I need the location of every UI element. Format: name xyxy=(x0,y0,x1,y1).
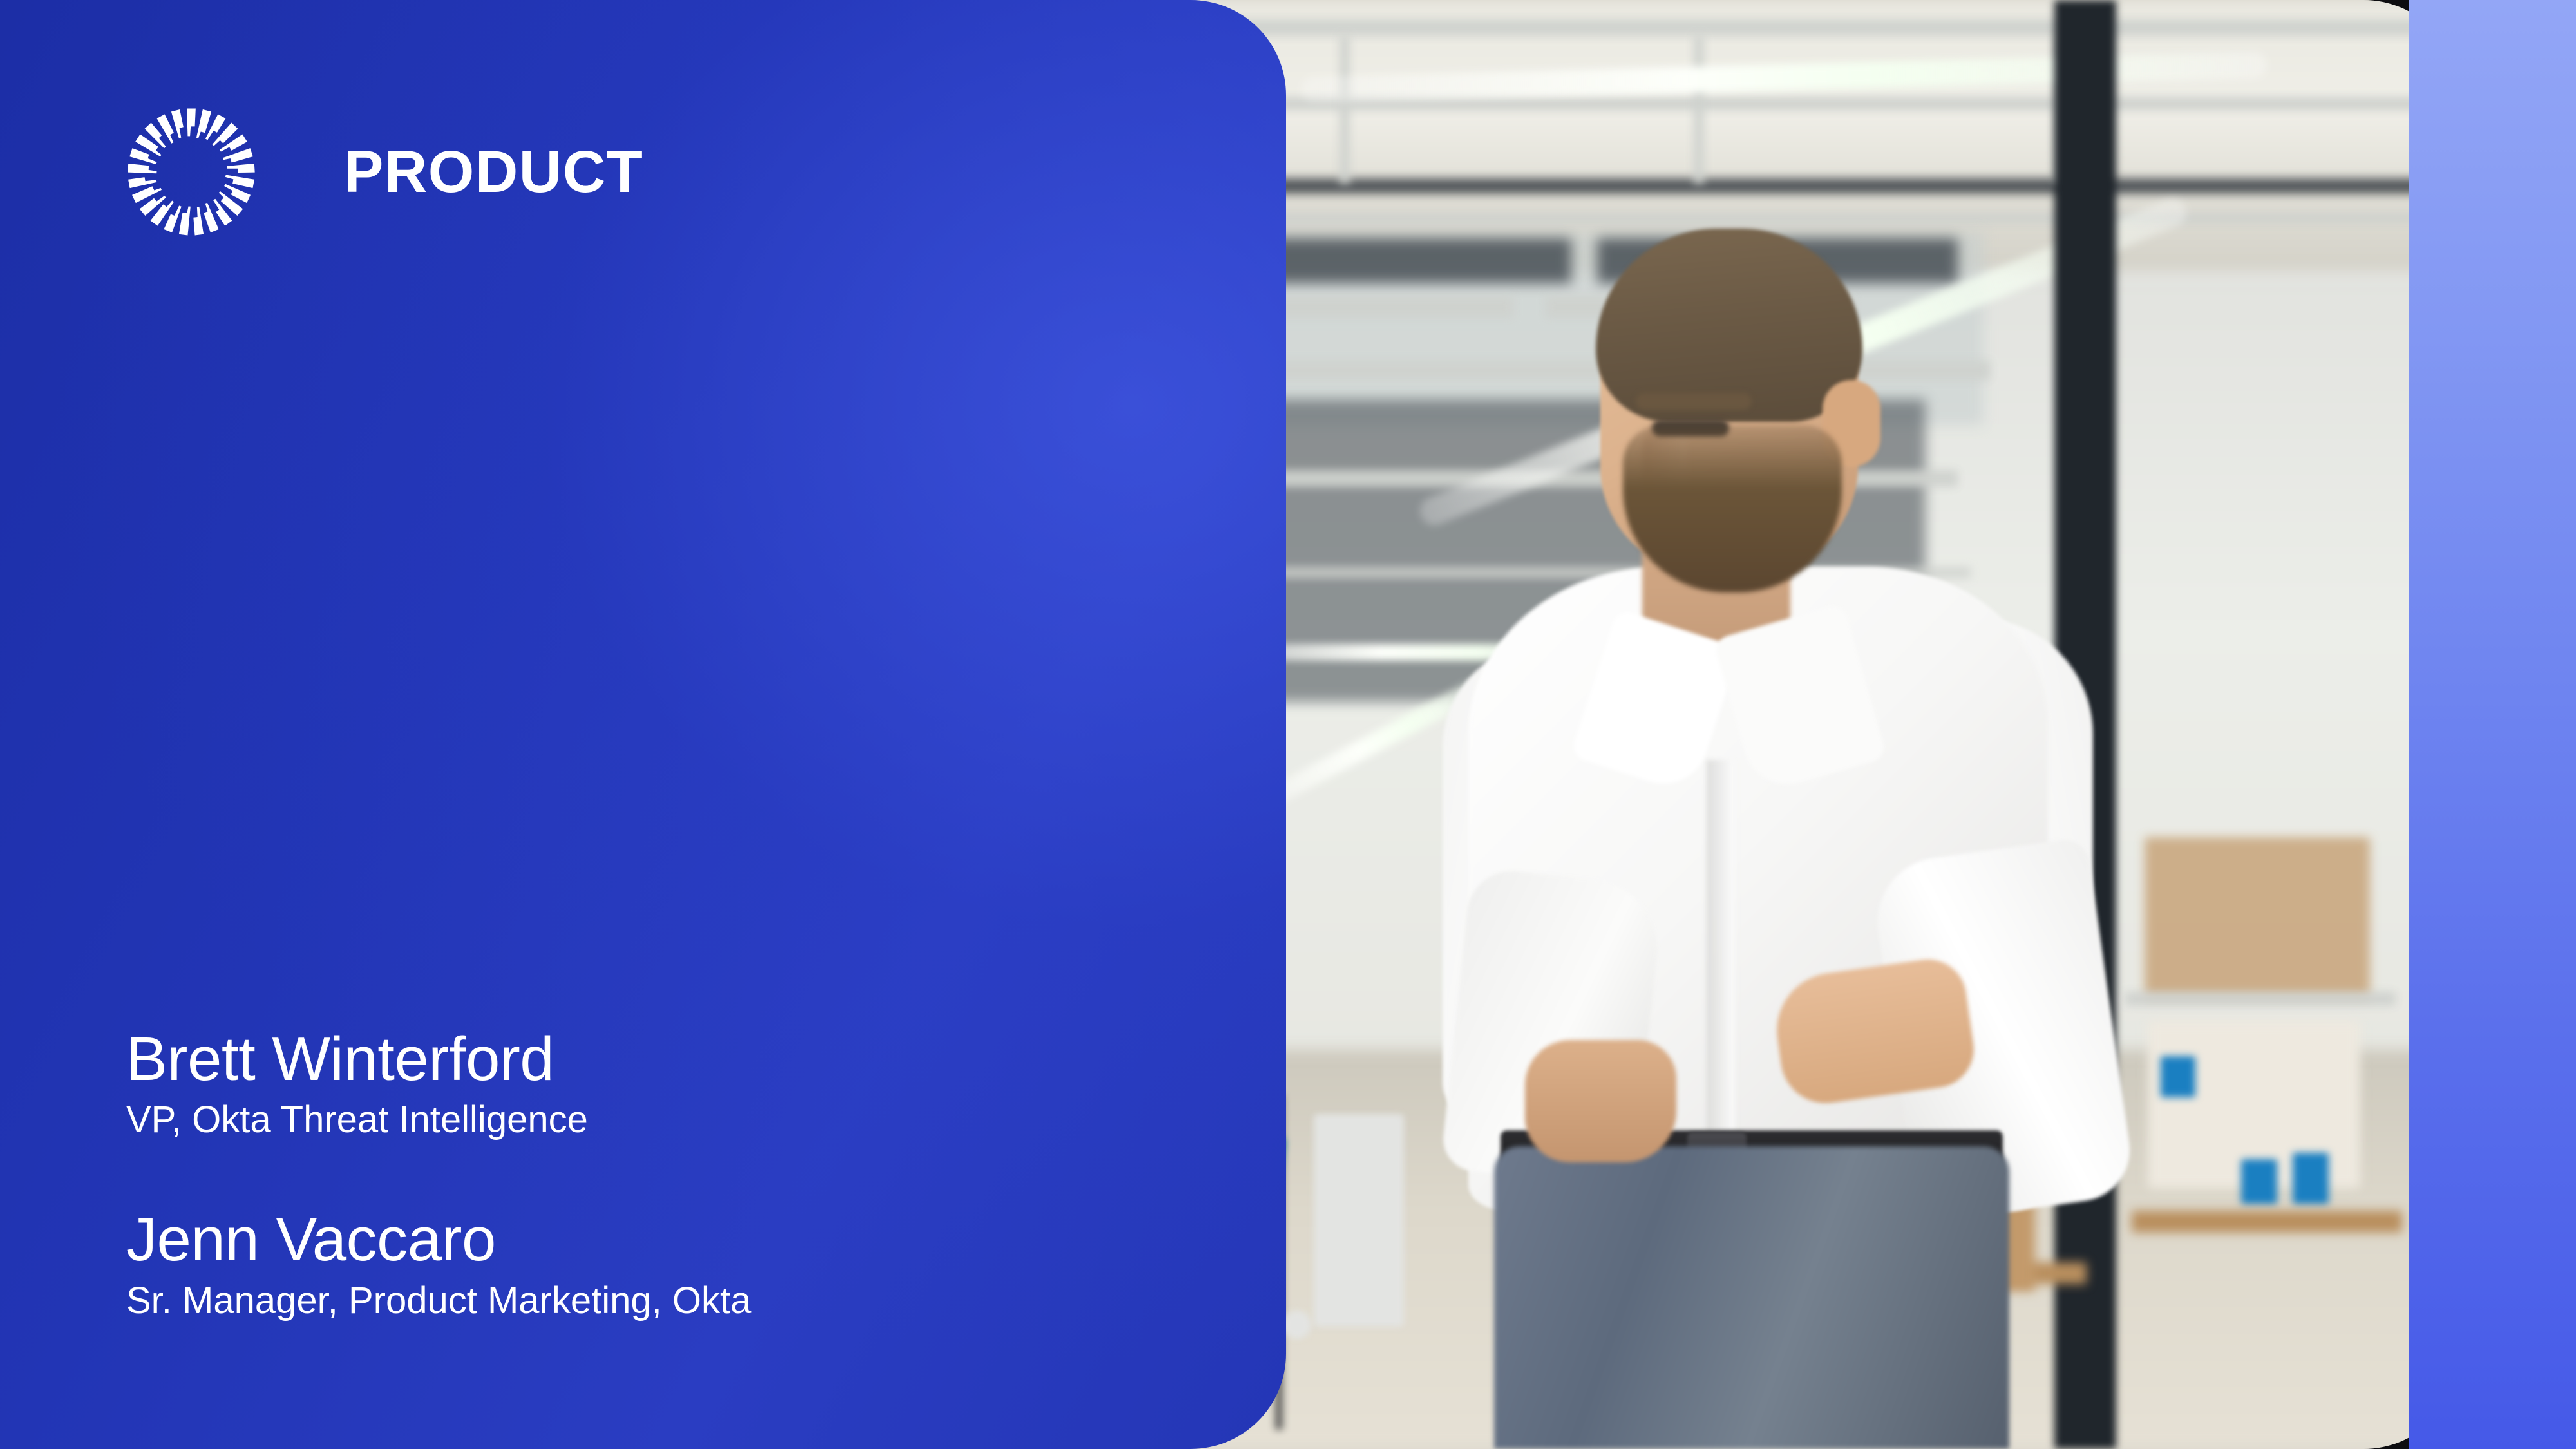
okta-sunburst-logo-icon xyxy=(122,103,260,241)
brand-row: PRODUCT xyxy=(122,103,643,241)
speaker-name: Jenn Vaccaro xyxy=(126,1207,751,1273)
photo-ceiling-beam xyxy=(1095,97,2460,111)
photo-person-brow xyxy=(1636,393,1752,410)
photo-person-left-hand xyxy=(1525,1040,1676,1162)
right-gradient-strip xyxy=(2409,0,2576,1449)
photo-person-shirt-placket xyxy=(1707,760,1735,1172)
speaker-title: VP, Okta Threat Intelligence xyxy=(126,1098,751,1142)
photo-person xyxy=(1430,232,2190,1449)
photo-pressure-gauge xyxy=(1283,1311,1311,1339)
speaker-card: PRODUCT Brett Winterford VP, Okta Threat… xyxy=(0,0,2576,1449)
photo-ceiling-strut xyxy=(1694,35,1704,184)
speaker-entry: Jenn Vaccaro Sr. Manager, Product Market… xyxy=(126,1207,751,1323)
photo-ceiling-beam xyxy=(1095,19,2460,36)
speaker-title: Sr. Manager, Product Marketing, Okta xyxy=(126,1279,751,1323)
speaker-name: Brett Winterford xyxy=(126,1027,751,1092)
photo-ceiling-beam xyxy=(1095,213,2460,224)
speaker-list: Brett Winterford VP, Okta Threat Intelli… xyxy=(126,1027,751,1323)
photo-ceiling-strut xyxy=(1340,35,1350,184)
photo-wall-box xyxy=(1314,1114,1404,1327)
category-label: PRODUCT xyxy=(344,142,643,202)
photo-box-label xyxy=(2241,1159,2277,1204)
photo-person-jeans xyxy=(1494,1146,2009,1449)
photo-box-label xyxy=(2293,1153,2329,1204)
speaker-entry: Brett Winterford VP, Okta Threat Intelli… xyxy=(126,1027,751,1142)
